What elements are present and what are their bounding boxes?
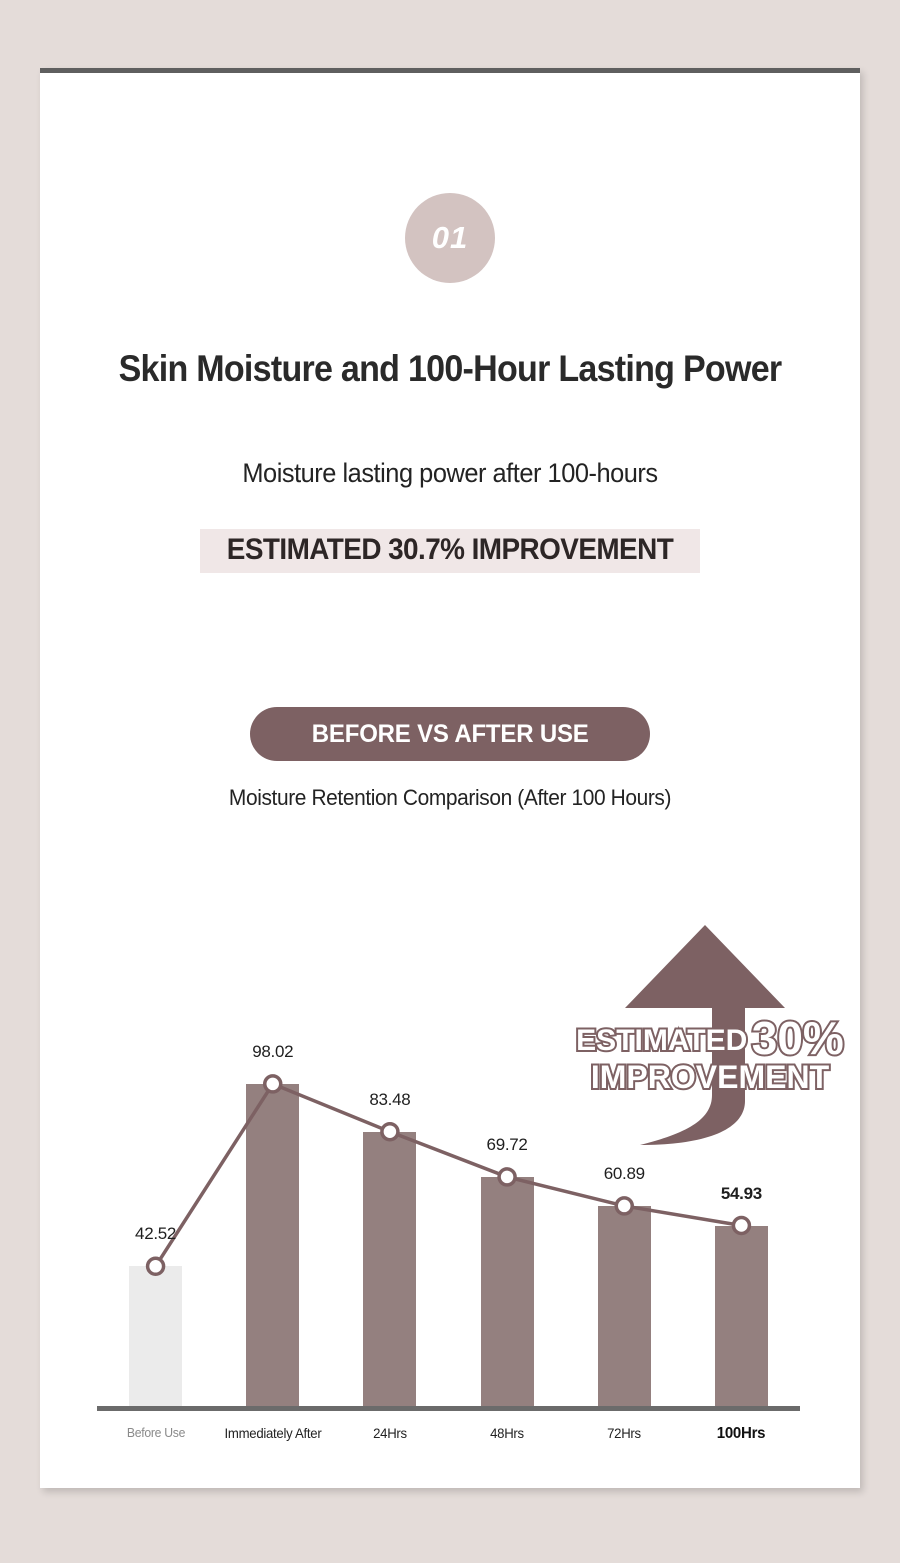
x-axis-label-immediately-after: Immediately After [207, 1425, 339, 1441]
x-axis-label-24hrs: 24Hrs [324, 1425, 456, 1441]
bar-fill [598, 1206, 651, 1406]
before-vs-after-button[interactable]: BEFORE VS AFTER USE [250, 707, 650, 761]
bar-fill [246, 1084, 299, 1406]
bar-value-label: 98.02 [228, 1042, 318, 1062]
x-axis-line [97, 1406, 800, 1411]
bar-value-label: 60.89 [579, 1164, 669, 1184]
chart-container: ESTIMATED 30% IMPROVEMENT Before UseImme… [40, 833, 860, 1453]
page-title: Skin Moisture and 100-Hour Lasting Power [73, 348, 827, 390]
x-axis-label-48hrs: 48Hrs [441, 1425, 573, 1441]
bar-fill [481, 1177, 534, 1406]
highlight-row: ESTIMATED 30.7% IMPROVEMENT [40, 529, 860, 573]
pill-row: BEFORE VS AFTER USE [40, 707, 860, 761]
bar-24hrs [363, 1132, 416, 1406]
bar-100hrs [715, 1226, 768, 1406]
x-axis-label-before-use: Before Use [90, 1425, 222, 1440]
highlight-band: ESTIMATED 30.7% IMPROVEMENT [200, 529, 700, 573]
bar-fill [129, 1266, 182, 1406]
bar-value-label: 69.72 [462, 1135, 552, 1155]
page-root: 01 Skin Moisture and 100-Hour Lasting Po… [0, 0, 900, 1563]
content-card: 01 Skin Moisture and 100-Hour Lasting Po… [40, 68, 860, 1488]
bar-fill [715, 1226, 768, 1406]
bar-before-use [129, 1266, 182, 1406]
bar-value-label: 54.93 [696, 1184, 786, 1204]
step-badge-number: 01 [432, 220, 468, 256]
plot-area [97, 833, 800, 1411]
x-axis-label-100hrs: 100Hrs [676, 1425, 808, 1443]
x-axis-label-72hrs: 72Hrs [558, 1425, 690, 1441]
page-subtitle: Moisture lasting power after 100-hours [65, 458, 836, 489]
bar-value-label: 83.48 [345, 1090, 435, 1110]
bar-value-label: 42.52 [111, 1224, 201, 1244]
chart-caption: Moisture Retention Comparison (After 100… [61, 785, 840, 811]
step-badge: 01 [405, 193, 495, 283]
bar-fill [363, 1132, 416, 1406]
bar-immediately-after [246, 1084, 299, 1406]
bar-72hrs [598, 1206, 651, 1406]
before-vs-after-label: BEFORE VS AFTER USE [312, 720, 589, 749]
improvement-statement: ESTIMATED 30.7% IMPROVEMENT [227, 533, 673, 567]
bar-48hrs [481, 1177, 534, 1406]
